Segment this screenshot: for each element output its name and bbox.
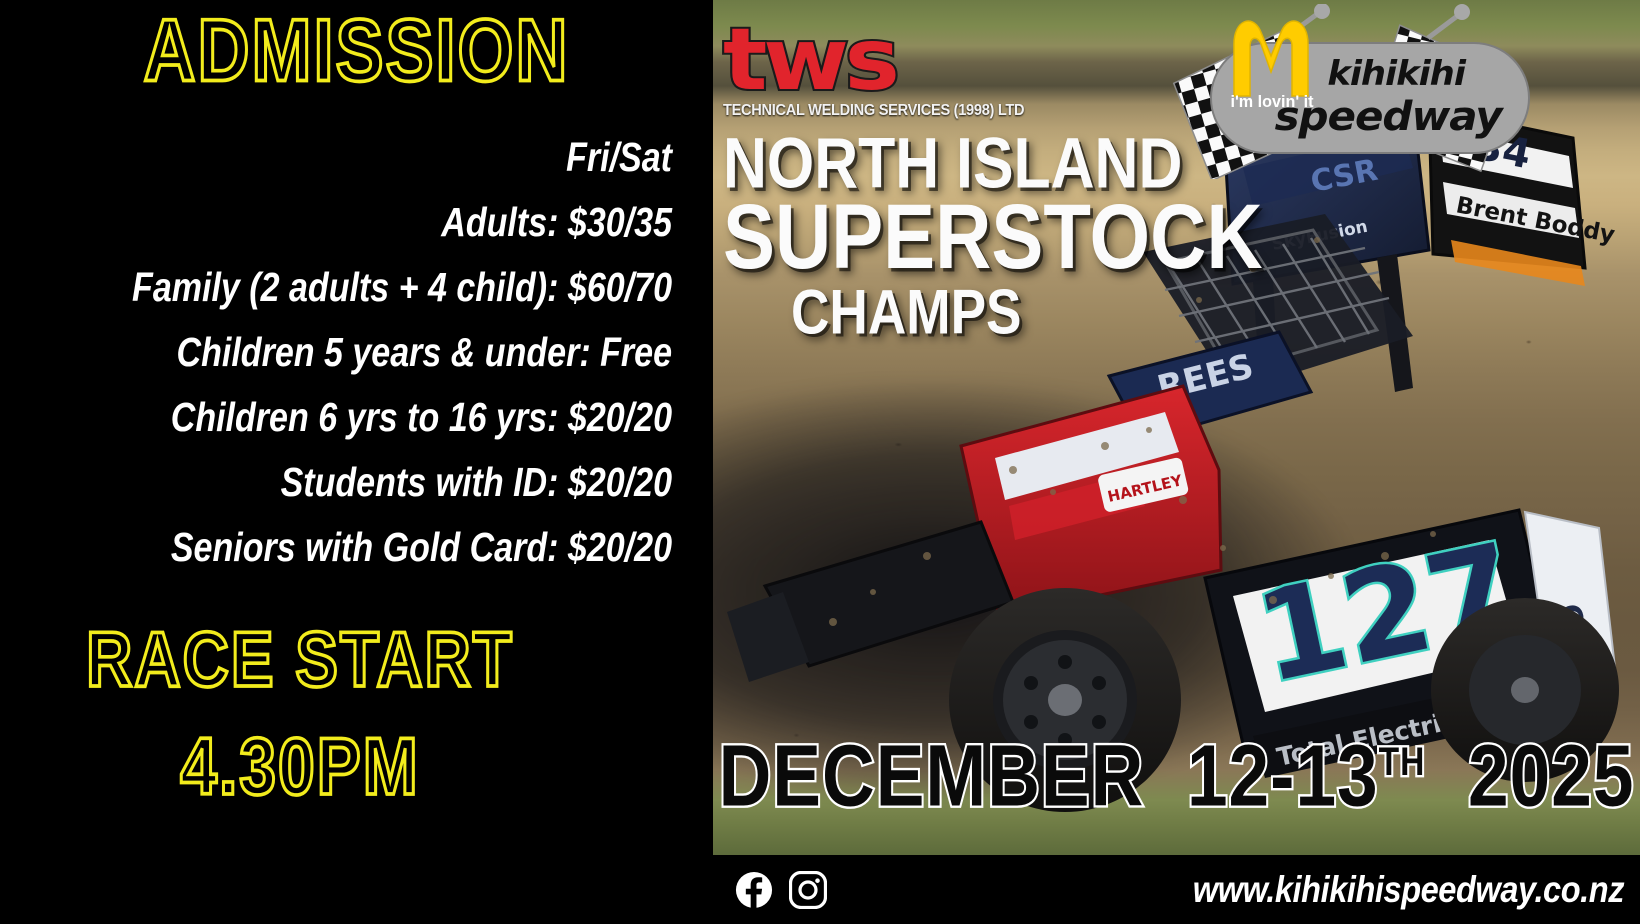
date-month: December (719, 727, 1145, 824)
race-start-label: Race Start (0, 611, 600, 706)
website-url[interactable]: www.kihikihispeedway.co.nz (1193, 868, 1624, 912)
event-date: December 12-13TH 2025 (713, 705, 1640, 834)
badge-name-line1: kihikihi (1327, 56, 1465, 92)
admission-title: Admission (0, 0, 713, 103)
photo-panel: CSR SkyFusion 34 Brent Boddy (713, 0, 1640, 924)
admission-price-list: Fri/Sat Adults: $30/35 Family (2 adults … (0, 125, 672, 580)
sponsor-logo-tws: tws TECHNICAL WELDING SERVICES (1998) LT… (723, 12, 983, 120)
badge-name-line2: speedway (1275, 96, 1502, 138)
price-row: Children 5 years & under: Free (114, 320, 672, 385)
instagram-icon[interactable] (789, 871, 827, 909)
date-suffix: TH (1379, 740, 1426, 784)
facebook-icon[interactable] (735, 871, 773, 909)
price-row: Seniors with Gold Card: $20/20 (114, 515, 672, 580)
event-title-line3: Champs (791, 281, 1258, 344)
admission-panel: Admission Fri/Sat Adults: $30/35 Family … (0, 0, 713, 924)
price-day-header: Fri/Sat (114, 125, 672, 190)
footer-bar: www.kihikihispeedway.co.nz (713, 855, 1640, 924)
event-title-line2: Superstock (723, 193, 1255, 283)
race-car-photo: CSR SkyFusion 34 Brent Boddy (713, 0, 1640, 855)
kihikihi-speedway-logo: i'm lovin' it kihikihi speedway (1148, 4, 1538, 179)
price-row: Students with ID: $20/20 (114, 450, 672, 515)
date-days: 12-13 (1187, 727, 1379, 824)
mcdonalds-arches-icon (1226, 10, 1316, 98)
price-row: Adults: $30/35 (114, 190, 672, 255)
date-year: 2025 (1468, 727, 1634, 824)
event-poster: Admission Fri/Sat Adults: $30/35 Family … (0, 0, 1640, 924)
tws-wordmark: tws (723, 12, 1004, 108)
price-row: Family (2 adults + 4 child): $60/70 (114, 255, 672, 320)
tws-tagline: TECHNICAL WELDING SERVICES (1998) LTD (723, 102, 967, 120)
social-links (735, 871, 827, 909)
race-start-time: 4.30pm (0, 717, 600, 815)
price-row: Children 6 yrs to 16 yrs: $20/20 (114, 385, 672, 450)
